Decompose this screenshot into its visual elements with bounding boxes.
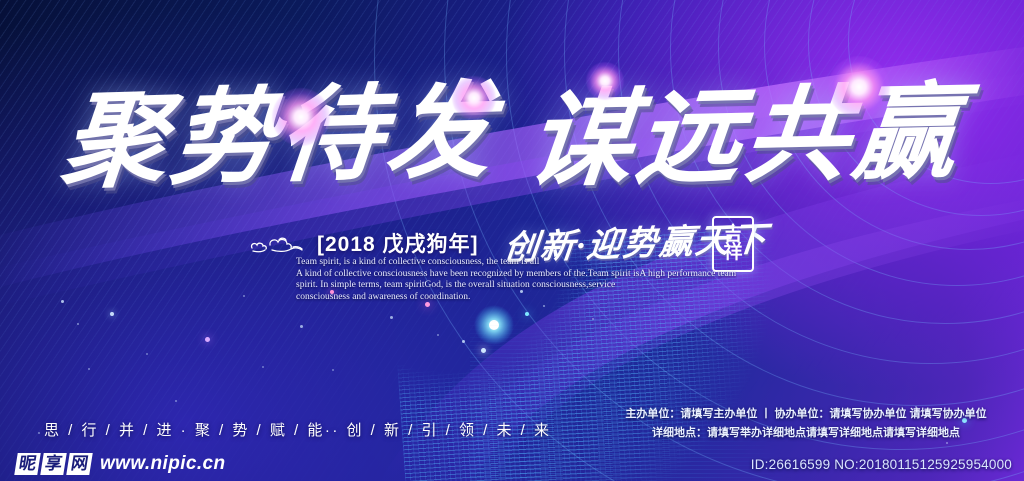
asset-id-line: ID:26616599 NO:20180115125925954000 (751, 457, 1012, 472)
nipic-watermark: 昵 享 网 www.nipic.cn (16, 453, 226, 475)
watermark-char-3: 网 (66, 453, 92, 475)
main-title: 聚势待发 谋远共赢 (0, 58, 1024, 218)
watermark-url: www.nipic.cn (100, 453, 226, 475)
english-line-2: A kind of collective consciousness have … (296, 269, 816, 281)
english-line-4: consciousness and awareness of coordinat… (296, 292, 816, 304)
poster-canvas: 聚势待发 谋远共赢 [2018 戊戌狗年] 创新·迎势赢天下 吉 祥 Team … (0, 0, 1024, 481)
watermark-char-2: 享 (40, 453, 66, 475)
english-description: Team spirit, is a kind of collective con… (296, 257, 816, 303)
organizer-block: 主办单位：请填写主办单位 丨 协办单位：请填写协办单位 请填写协办单位 详细地点… (596, 405, 1016, 443)
english-line-3: spirit. In simple terms, team spiritGod,… (296, 280, 816, 292)
wave-mesh-decor-2 (470, 300, 1024, 481)
keyword-strip: 思 / 行 / 并 / 进 · 聚 / 势 / 赋 / 能·· 创 / 新 / … (44, 419, 552, 440)
title-left: 聚势待发 (57, 80, 500, 196)
cloud-ornament-icon (248, 231, 310, 255)
location-line: 详细地点：请填写举办详细地点请填写详细地点请填写详细地点 (596, 424, 1016, 443)
watermark-char-1: 昵 (14, 453, 40, 475)
year-text: [2018 戊戌狗年] (317, 228, 479, 258)
title-right: 谋远共赢 (523, 81, 967, 194)
watermark-logo: 昵 享 网 (16, 453, 91, 475)
organizer-line: 主办单位：请填写主办单位 丨 协办单位：请填写协办单位 请填写协办单位 (596, 405, 1016, 424)
english-line-1: Team spirit, is a kind of collective con… (296, 257, 816, 269)
year-line: [2018 戊戌狗年] (248, 228, 479, 258)
